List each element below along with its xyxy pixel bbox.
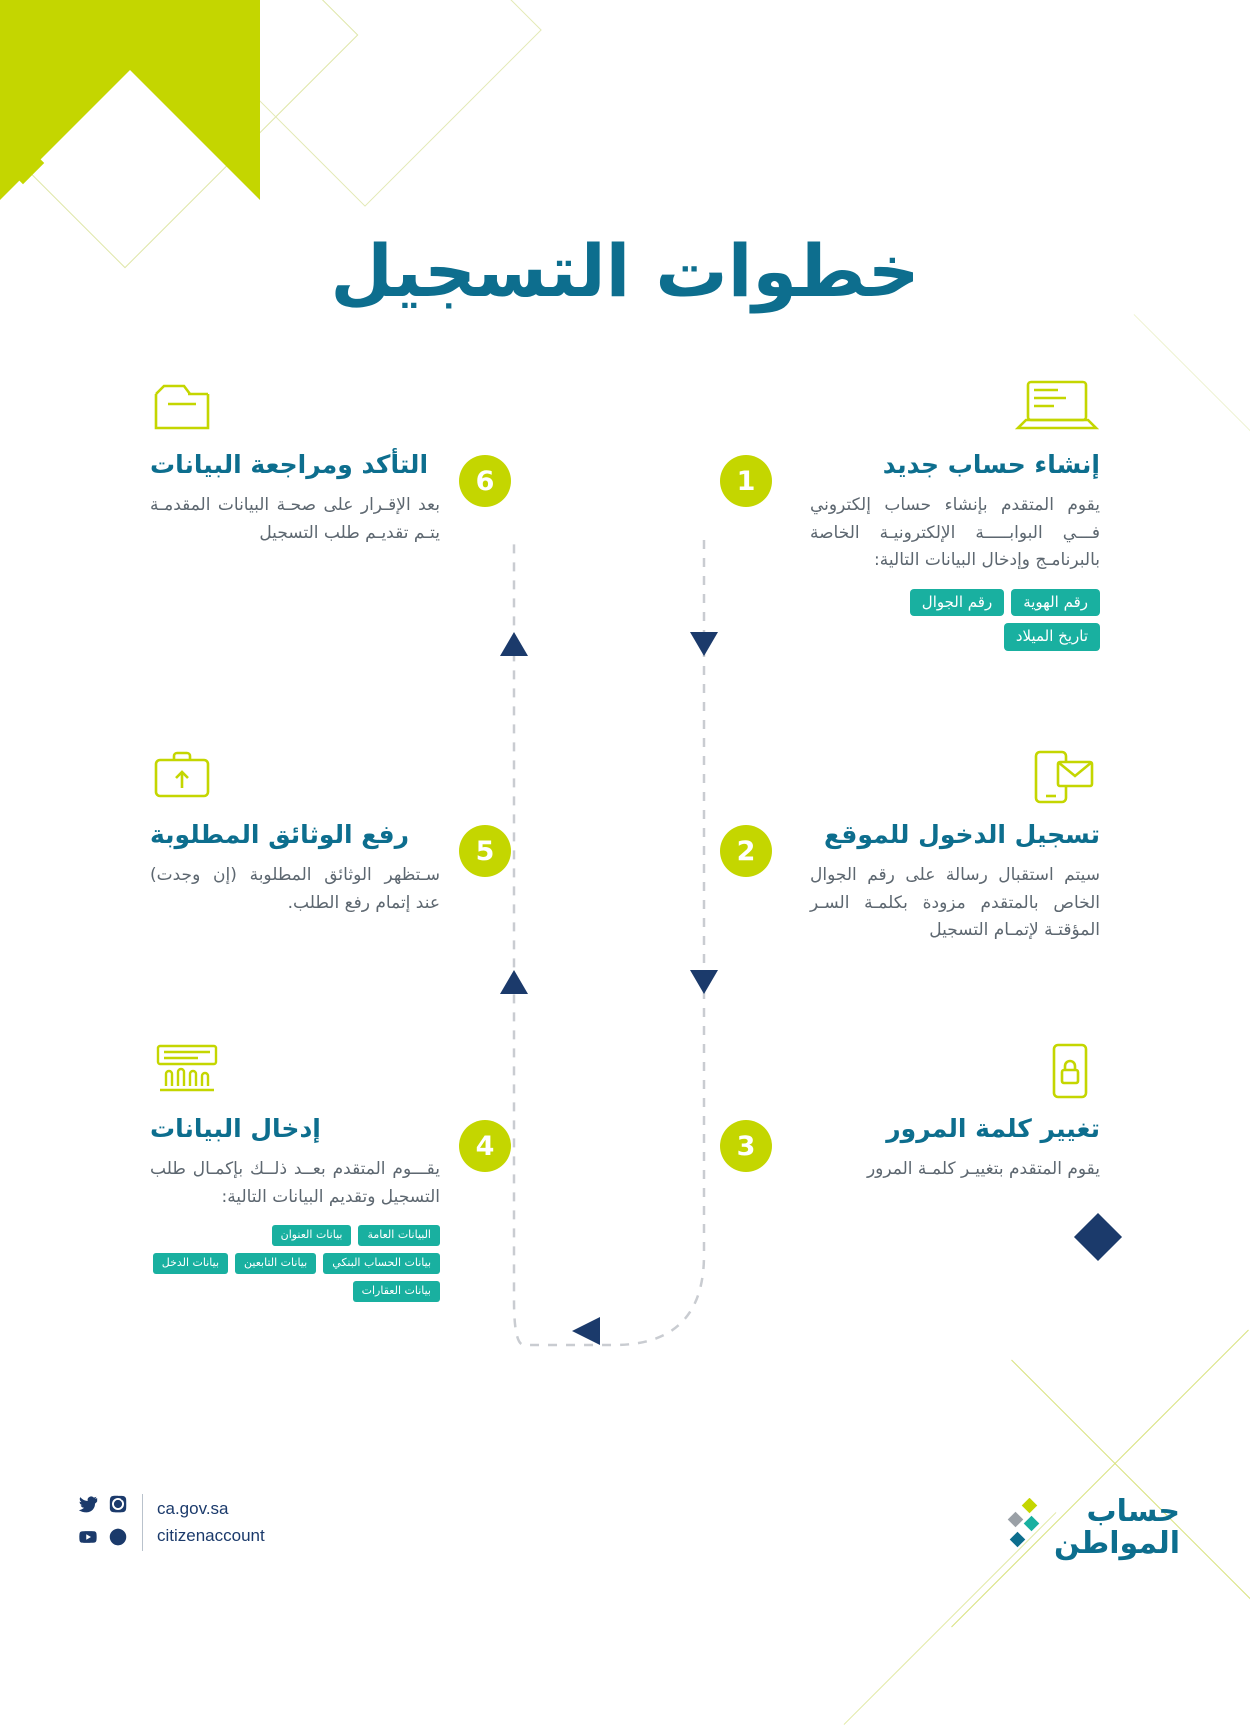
chip-income-data[interactable]: بيانات الدخل — [153, 1253, 228, 1274]
chip-id-number[interactable]: رقم الهوية — [1011, 589, 1100, 617]
chip-general-data[interactable]: البيانات العامة — [358, 1225, 440, 1246]
step-title-4: إدخال البيانات — [150, 1114, 440, 1144]
mobile-lock-icon — [810, 1042, 1100, 1100]
instagram-icon[interactable] — [108, 1494, 128, 1518]
step-number-1: 1 — [720, 455, 772, 507]
briefcase-upload-icon — [150, 748, 440, 806]
logo-mark-icon — [998, 1498, 1044, 1558]
step-desc-5: سـتظهر الوثائق المطلوبة (إن وجدت) عند إت… — [150, 862, 440, 917]
step-block-6: التأكد ومراجعة البيانات بعد الإقـرار على… — [150, 378, 440, 547]
step-desc-2: سيتم استقبال رسالة على رقم الجوال الخاص … — [810, 862, 1100, 945]
step-title-5: رفع الوثائق المطلوبة — [150, 820, 440, 850]
step-number-2: 2 — [720, 825, 772, 877]
logo-line-2: المواطن — [1054, 1528, 1180, 1560]
data-entry-icon — [150, 1042, 440, 1100]
step-block-1: إنشاء حساب جديد يقوم المتقدم بإنشاء حساب… — [810, 378, 1100, 651]
chip-mobile-number[interactable]: رقم الجوال — [910, 589, 1004, 617]
step-number-6: 6 — [459, 455, 511, 507]
twitter-icon[interactable] — [78, 1494, 98, 1518]
step-title-1: إنشاء حساب جديد — [810, 450, 1100, 480]
step-block-2: تسجيل الدخول للموقع سيتم استقبال رسالة ع… — [810, 748, 1100, 945]
step-desc-1: يقوم المتقدم بإنشاء حساب إلكتروني فـــي … — [810, 492, 1100, 575]
step-block-4: إدخال البيانات يقـــوم المتقدم بعــد ذلـ… — [150, 1042, 440, 1302]
step-chips-4: البيانات العامة بيانات العنوان بيانات ال… — [150, 1225, 440, 1302]
step-title-3: تغيير كلمة المرور — [810, 1114, 1100, 1144]
logo-line-1: حساب — [1054, 1496, 1180, 1528]
step-number-5: 5 — [459, 825, 511, 877]
step-block-3: تغيير كلمة المرور يقوم المتقدم بتغييـر ك… — [810, 1042, 1100, 1184]
chip-properties-data[interactable]: بيانات العقارات — [353, 1281, 440, 1302]
step-desc-3: يقوم المتقدم بتغييـر كلمـة المرور — [810, 1156, 1100, 1184]
footer-social-block: ca.gov.sa citizenaccount — [78, 1494, 265, 1551]
step-title-2: تسجيل الدخول للموقع — [810, 820, 1100, 850]
chip-dependents-data[interactable]: بيانات التابعين — [235, 1253, 316, 1274]
folder-check-icon — [150, 378, 440, 436]
brand-logo: حساب المواطن — [998, 1496, 1180, 1559]
chip-bank-account-data[interactable]: بيانات الحساب البنكي — [323, 1253, 440, 1274]
step-chips-1: رقم الهوية رقم الجوال تاريخ الميلاد — [810, 589, 1100, 651]
youtube-icon[interactable] — [78, 1527, 98, 1551]
step-title-6: التأكد ومراجعة البيانات — [150, 450, 440, 480]
step-number-3: 3 — [720, 1120, 772, 1172]
footer-link-website[interactable]: ca.gov.sa — [157, 1499, 265, 1519]
footer-link-handle[interactable]: citizenaccount — [157, 1526, 265, 1546]
chip-address-data[interactable]: بيانات العنوان — [272, 1225, 352, 1246]
step-desc-4: يقـــوم المتقدم بعــد ذلــك بإكمـال طلب … — [150, 1156, 440, 1211]
footer-divider — [142, 1494, 143, 1551]
step-desc-6: بعد الإقـرار على صحـة البيانات المقدمـة … — [150, 492, 440, 547]
step-block-5: رفع الوثائق المطلوبة سـتظهر الوثائق المط… — [150, 748, 440, 917]
mobile-message-icon — [810, 748, 1100, 806]
globe-icon[interactable] — [108, 1527, 128, 1551]
laptop-icon — [810, 378, 1100, 436]
chip-birthdate[interactable]: تاريخ الميلاد — [1004, 623, 1100, 651]
step-number-4: 4 — [459, 1120, 511, 1172]
